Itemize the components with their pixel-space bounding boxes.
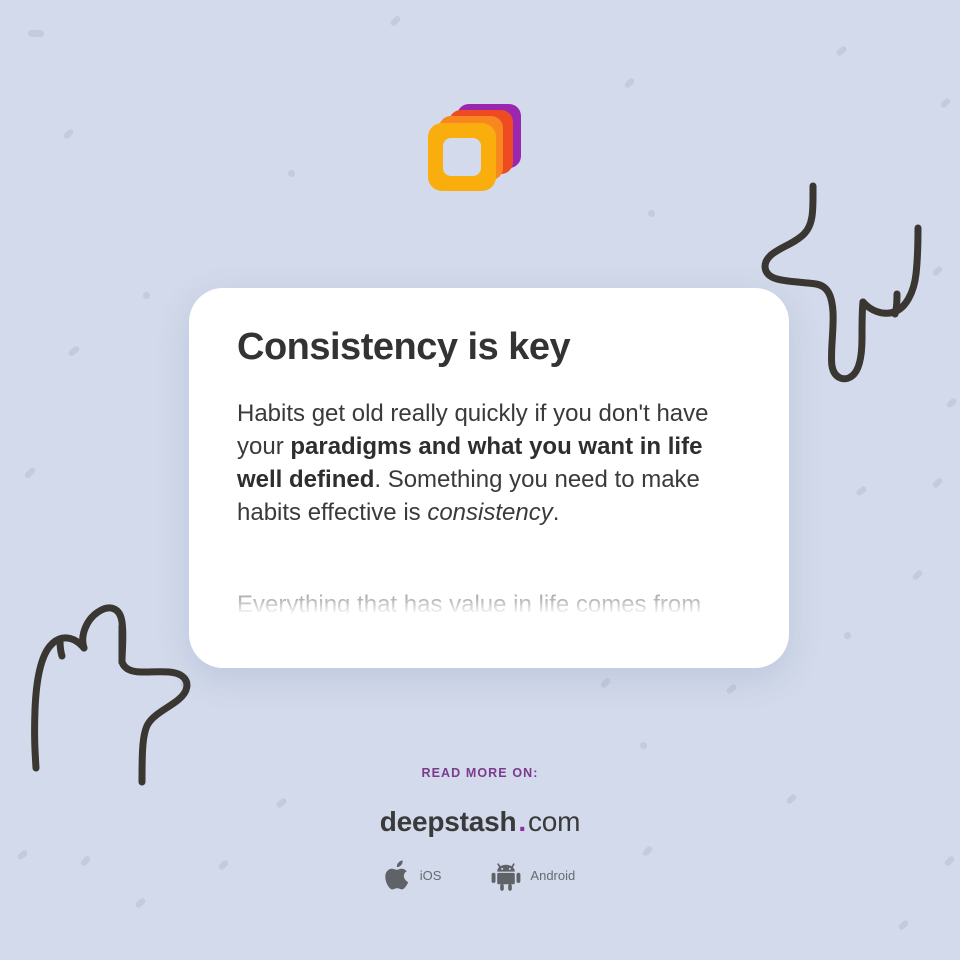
brand-name: deepstash — [380, 806, 517, 837]
confetti-speck — [725, 683, 737, 695]
confetti-speck — [179, 677, 191, 689]
brand-tld: com — [528, 806, 580, 837]
store-badges: iOS Andr — [0, 860, 960, 891]
confetti-speck — [24, 467, 37, 480]
confetti-speck — [599, 677, 611, 689]
confetti-speck — [640, 742, 647, 749]
confetti-speck — [624, 77, 636, 89]
confetti-speck — [911, 569, 923, 581]
android-icon — [491, 860, 521, 891]
confetti-speck — [143, 292, 150, 299]
confetti-speck — [835, 45, 847, 57]
card-body-text: Habits get old really quickly if you don… — [237, 397, 741, 529]
ios-label: iOS — [420, 868, 442, 883]
brand-wordmark[interactable]: deepstash.com — [0, 806, 960, 838]
confetti-speck — [28, 30, 44, 38]
confetti-speck — [844, 632, 851, 639]
confetti-speck — [67, 345, 80, 357]
confetti-speck — [855, 485, 867, 497]
confetti-speck — [931, 477, 943, 489]
apple-icon — [385, 860, 411, 891]
idea-card[interactable]: Consistency is key Habits get old really… — [189, 288, 789, 668]
confetti-speck — [134, 897, 146, 909]
confetti-speck — [62, 128, 74, 140]
confetti-speck — [288, 170, 295, 177]
ios-store-badge[interactable]: iOS — [385, 860, 442, 891]
confetti-speck — [389, 15, 401, 27]
confetti-speck — [939, 97, 951, 109]
android-label: Android — [530, 868, 575, 883]
deepstash-logo — [425, 100, 525, 200]
poster-canvas: Consistency is key Habits get old really… — [0, 0, 960, 960]
body-segment-italic: consistency — [427, 499, 552, 526]
android-store-badge[interactable]: Android — [491, 860, 575, 891]
confetti-speck — [931, 265, 943, 277]
body-segment-5: . — [553, 499, 560, 526]
card-title: Consistency is key — [237, 326, 741, 369]
brand-dot: . — [518, 806, 526, 837]
confetti-speck — [945, 397, 957, 409]
logo-center-cutout — [443, 138, 481, 176]
footer: READ MORE ON: deepstash.com iOS — [0, 766, 960, 891]
card-content: Consistency is key Habits get old really… — [189, 288, 789, 529]
read-more-label: READ MORE ON: — [0, 766, 960, 780]
card-faded-preview: Everything that has value in life comes … — [237, 588, 741, 621]
pointing-up-hand-left-illustration — [18, 556, 218, 796]
confetti-speck — [648, 210, 655, 217]
confetti-speck — [897, 919, 909, 931]
